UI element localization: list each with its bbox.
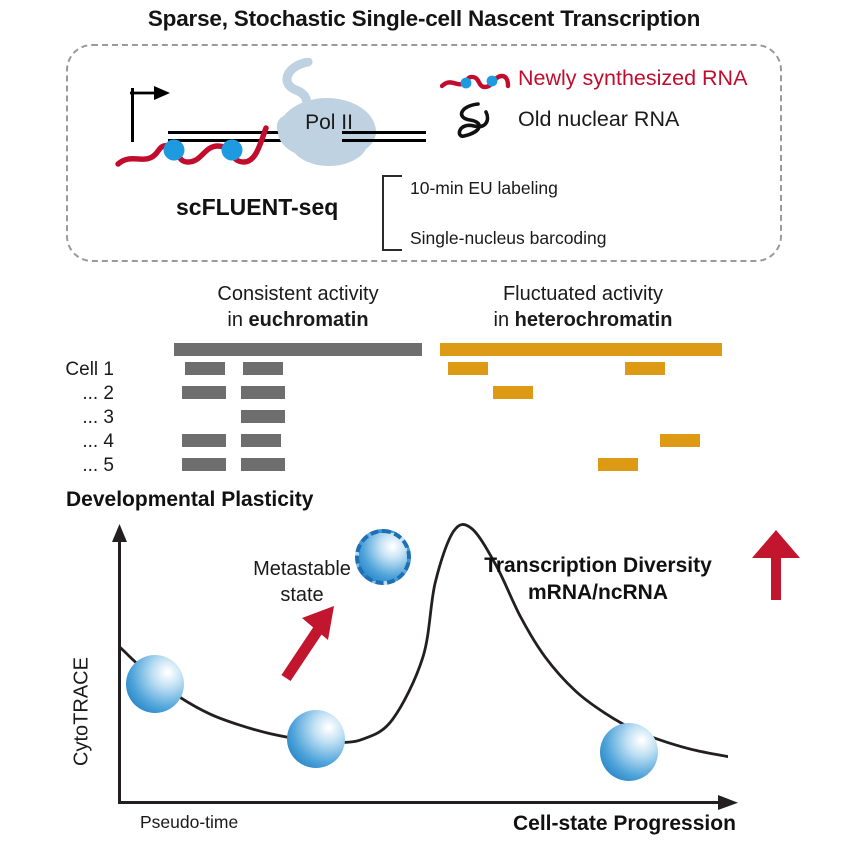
euchromatin-heading: Consistent activity in euchromatin <box>182 281 414 333</box>
euchromatin-heading-prefix: in <box>227 309 248 331</box>
heterochromatin-heading-line1: Fluctuated activity <box>444 281 722 307</box>
method-name-label: scFLUENT-seq <box>176 194 338 221</box>
euchromatin-domain-bar <box>174 343 422 356</box>
legend-new-rna-icon <box>440 64 514 98</box>
cell-row-label-4: ... 4 <box>40 431 114 453</box>
euchromatin-signal-block-r1-1 <box>185 362 225 375</box>
diversity-label-line2: mRNA/ncRNA <box>458 579 738 606</box>
method-steps-bracket <box>382 175 402 251</box>
start-state-sphere <box>126 655 184 713</box>
cell-row-label-5: ... 5 <box>40 455 114 477</box>
euchromatin-signal-block-r4-2 <box>241 434 281 447</box>
heterochromatin-heading: Fluctuated activity in heterochromatin <box>444 281 722 333</box>
red-up-arrow-icon <box>750 528 802 602</box>
heterochromatin-heading-line2: in heterochromatin <box>444 307 722 333</box>
euchromatin-signal-block-r3-1 <box>241 410 285 423</box>
valley-state-sphere <box>287 710 345 768</box>
euchromatin-heading-term: euchromatin <box>249 309 369 331</box>
legend-label-old-nuclear-rna: Old nuclear RNA <box>518 107 679 132</box>
figure-title: Sparse, Stochastic Single-cell Nascent T… <box>0 6 848 32</box>
euchromatin-heading-line1: Consistent activity <box>182 281 414 307</box>
tss-arrowhead-icon <box>128 82 172 104</box>
euchromatin-signal-block-r5-2 <box>241 458 285 471</box>
dna-strand-bottom-right <box>342 139 426 142</box>
heterochromatin-signal-block-r4-1 <box>660 434 700 447</box>
legend-label-newly-synthesized-rna: Newly synthesized RNA <box>518 66 747 91</box>
heterochromatin-signal-block-r2-1 <box>493 386 533 399</box>
cell-row-label-2: ... 2 <box>40 383 114 405</box>
metastable-label-line1: Metastable <box>236 556 368 582</box>
x-axis-label-cell-state-progression: Cell-state Progression <box>513 812 736 836</box>
euchromatin-signal-block-r2-1 <box>182 386 226 399</box>
cell-row-label-1: Cell 1 <box>40 359 114 381</box>
pol-ii-label: Pol II <box>283 111 375 135</box>
y-axis-label: CytoTRACE <box>71 622 94 802</box>
heterochromatin-signal-block-r1-1 <box>448 362 488 375</box>
x-axis-label-pseudo-time: Pseudo-time <box>140 812 238 833</box>
method-step-barcoding: Single-nucleus barcoding <box>410 228 607 249</box>
landscape-title: Developmental Plasticity <box>66 488 313 512</box>
heterochromatin-signal-block-r5-1 <box>598 458 638 471</box>
heterochromatin-signal-block-r1-2 <box>625 362 665 375</box>
heterochromatin-heading-prefix: in <box>494 309 515 331</box>
legend-old-rna-icon <box>448 100 500 142</box>
heterochromatin-domain-bar <box>440 343 722 356</box>
heterochromatin-heading-term: heterochromatin <box>515 309 673 331</box>
euchromatin-signal-block-r5-1 <box>182 458 226 471</box>
transcription-diversity-label: Transcription Diversity mRNA/ncRNA <box>458 552 738 606</box>
euchromatin-signal-block-r1-2 <box>243 362 283 375</box>
cell-row-label-3: ... 3 <box>40 407 114 429</box>
diversity-label-line1: Transcription Diversity <box>458 552 738 579</box>
end-state-sphere <box>600 723 658 781</box>
red-diagonal-arrow-icon <box>272 600 342 686</box>
euchromatin-signal-block-r2-2 <box>241 386 285 399</box>
euchromatin-heading-line2: in euchromatin <box>182 307 414 333</box>
nascent-rna-strand-icon <box>114 118 294 176</box>
euchromatin-signal-block-r4-1 <box>182 434 226 447</box>
method-step-eu-labeling: 10-min EU labeling <box>410 178 558 199</box>
